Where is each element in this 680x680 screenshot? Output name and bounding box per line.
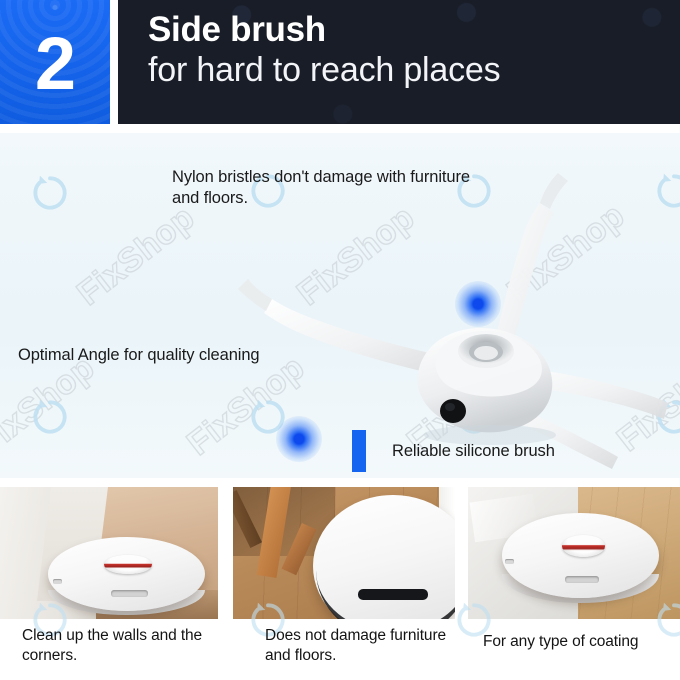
page-title: Side brush (148, 10, 680, 49)
side-button (53, 579, 62, 584)
air-vent (111, 590, 149, 597)
infographic-page: 2 Side brush for hard to reach places Fi… (0, 0, 680, 680)
air-vent (565, 576, 600, 583)
photo-captions: Clean up the walls and the corners. Does… (0, 626, 680, 680)
page-subtitle: for hard to reach places (148, 51, 680, 90)
photo-furniture-floors (233, 487, 455, 619)
caption-any-coating: For any type of coating (483, 632, 680, 652)
silicone-accent-bar (352, 430, 366, 472)
photo-walls-corners (0, 487, 218, 619)
air-vent (358, 589, 428, 600)
step-number-text: 2 (35, 27, 75, 101)
callout-silicone-brush: Reliable silicone brush (352, 430, 555, 472)
caption-furniture-floors: Does not damage furniture and floors. (265, 626, 465, 667)
robot-vacuum (48, 537, 205, 611)
header: 2 Side brush for hard to reach places (0, 0, 680, 124)
callout-optimal-angle: Optimal Angle for quality cleaning (18, 345, 348, 366)
photo-row (0, 487, 680, 619)
side-button (505, 559, 514, 564)
robot-vacuum (502, 513, 659, 597)
callout-nylon-bristles: Nylon bristles don't damage with furnitu… (172, 167, 472, 210)
lidar-turret (104, 555, 151, 574)
step-number-badge: 2 (0, 0, 110, 124)
photo-any-coating (468, 487, 680, 619)
caption-walls-corners: Clean up the walls and the corners. (22, 626, 222, 667)
silicone-brush-label: Reliable silicone brush (392, 442, 555, 461)
header-title-panel: Side brush for hard to reach places (118, 0, 680, 124)
